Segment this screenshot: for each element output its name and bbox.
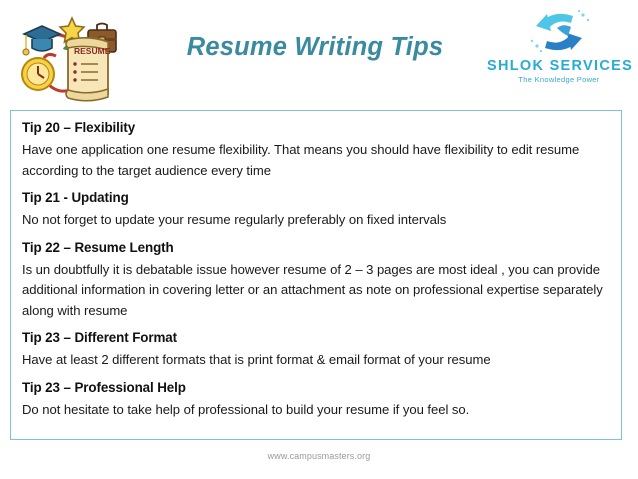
tip-block: Tip 21 - Updating No not forget to updat… [22, 188, 610, 231]
tip-block: Tip 20 – Flexibility Have one applicatio… [22, 118, 610, 181]
circular-arrows-icon [487, 6, 631, 58]
graduation-cap-icon [23, 26, 60, 55]
page-title: Resume Writing Tips [150, 33, 480, 62]
tip-heading: Tip 23 – Different Format [22, 328, 610, 347]
resume-scroll-illustration: RESUME [12, 12, 124, 104]
brand-logo: SHLOK SERVICES The Knowledge Power [487, 6, 631, 98]
tip-heading: Tip 20 – Flexibility [22, 118, 610, 137]
tip-body: Is un doubtfully it is debatable issue h… [22, 260, 610, 322]
tip-heading: Tip 21 - Updating [22, 188, 610, 207]
tip-body: Have at least 2 different formats that i… [22, 350, 610, 371]
tip-heading: Tip 23 – Professional Help [22, 378, 610, 397]
tip-heading: Tip 22 – Resume Length [22, 238, 610, 257]
footer-url: www.campusmasters.org [0, 451, 638, 461]
tip-body: No not forget to update your resume regu… [22, 210, 610, 231]
resume-illustration-svg: RESUME [12, 12, 124, 104]
tip-body: Do not hesitate to take help of professi… [22, 400, 610, 421]
brand-tagline: The Knowledge Power [487, 74, 631, 85]
resume-scroll-icon: RESUME [66, 38, 111, 101]
tips-content-box: Tip 20 – Flexibility Have one applicatio… [10, 110, 622, 440]
tip-body: Have one application one resume flexibil… [22, 140, 610, 181]
svg-text:RESUME: RESUME [74, 46, 111, 56]
tip-block: Tip 22 – Resume Length Is un doubtfully … [22, 238, 610, 322]
slide-header: RESUME Resume Writing Tips SHLOK SERVICE… [0, 0, 638, 108]
tip-block: Tip 23 – Professional Help Do not hesita… [22, 378, 610, 421]
brand-name: SHLOK SERVICES [487, 58, 631, 74]
tip-block: Tip 23 – Different Format Have at least … [22, 328, 610, 371]
clock-icon [22, 58, 54, 90]
